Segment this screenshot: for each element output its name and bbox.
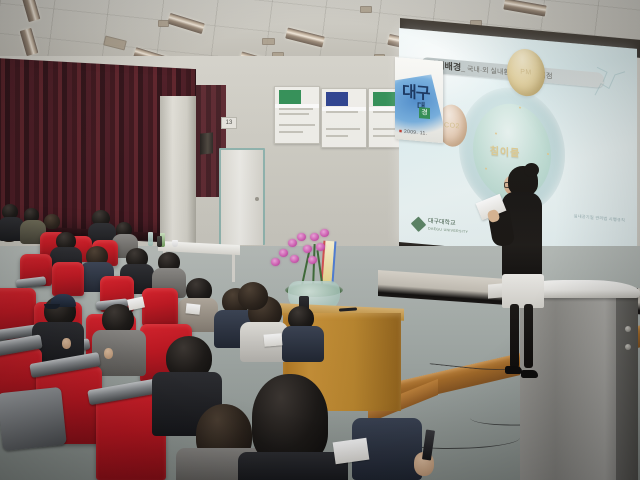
poster-glare-band bbox=[275, 104, 319, 108]
orchid-flower bbox=[290, 255, 299, 263]
water-bottle[interactable] bbox=[148, 232, 153, 246]
poster-text-line bbox=[279, 108, 313, 110]
poster-glare-band bbox=[322, 107, 366, 111]
poster-text-line bbox=[279, 113, 309, 115]
poster-text-line bbox=[279, 131, 303, 133]
presenter-shoe bbox=[505, 366, 522, 374]
slide-decor-dot bbox=[495, 132, 497, 134]
audience-hand bbox=[62, 338, 71, 349]
presenter-leg bbox=[524, 304, 533, 368]
audience-head bbox=[44, 214, 60, 229]
presenter-hair-bun bbox=[524, 163, 539, 177]
presenter-skirt bbox=[502, 274, 544, 308]
logo-text: 대구대학교 DAEGU UNIVERSITY bbox=[428, 219, 468, 234]
room-number-sign: 13 bbox=[221, 117, 237, 129]
logo-name: 대구대학교 bbox=[428, 219, 456, 227]
door-frame bbox=[219, 148, 265, 245]
presenter-leg bbox=[510, 304, 519, 368]
door[interactable] bbox=[221, 150, 263, 245]
banner-date-accent: ■ bbox=[399, 128, 402, 134]
poster-text-line bbox=[326, 135, 348, 137]
handout-paper bbox=[264, 333, 283, 347]
lecture-hall-photo: 13 실험배경_ 국내·외 실내환경 기준 차이점 bbox=[0, 0, 640, 480]
wall-column bbox=[160, 96, 196, 246]
notebook-page bbox=[333, 438, 370, 465]
lectern-side-panel bbox=[616, 288, 638, 480]
ceiling-vent bbox=[262, 38, 275, 45]
paper-cup[interactable] bbox=[172, 240, 178, 247]
dark-bottle[interactable] bbox=[157, 236, 162, 247]
logo-diamond-icon bbox=[411, 216, 427, 232]
wall-poster bbox=[274, 86, 320, 144]
audience-hand bbox=[104, 348, 113, 359]
orchid-flower bbox=[279, 249, 288, 257]
door-handle[interactable] bbox=[255, 197, 259, 201]
wall-poster bbox=[321, 88, 367, 148]
event-banner: 대구 대 경 ■ 2009. 11. bbox=[395, 57, 443, 143]
cap-brim bbox=[44, 304, 60, 309]
auditorium-seat[interactable] bbox=[142, 288, 178, 326]
slide-bubble-pm-label: PM bbox=[507, 67, 545, 77]
wall-speaker bbox=[200, 132, 213, 154]
slide-decor-dot bbox=[519, 106, 521, 108]
slide-decor-dot bbox=[485, 168, 487, 170]
seat-armrest bbox=[0, 387, 67, 451]
audience-head bbox=[252, 374, 328, 464]
ceiling-vent bbox=[360, 6, 372, 13]
presenter-shoe bbox=[521, 370, 538, 378]
slide-sketch-lines bbox=[591, 61, 631, 104]
orchid-flower bbox=[320, 229, 329, 237]
lectern-knob[interactable] bbox=[625, 344, 631, 350]
orchid-flower bbox=[303, 245, 312, 253]
audience-head bbox=[238, 282, 268, 310]
orchid-flower bbox=[288, 239, 297, 247]
table-leg bbox=[232, 252, 235, 282]
orchid-flower bbox=[271, 258, 280, 266]
poster-header-block bbox=[279, 90, 301, 104]
poster-text-line bbox=[326, 111, 358, 113]
orchid-flower bbox=[316, 243, 325, 251]
audience-body bbox=[238, 452, 348, 480]
orchid-flower bbox=[297, 233, 306, 241]
poster-text-line bbox=[326, 128, 360, 130]
auditorium-seat[interactable] bbox=[52, 262, 84, 296]
handout-paper bbox=[186, 303, 201, 314]
orchid-flower bbox=[308, 256, 317, 264]
orchid-flower bbox=[310, 233, 319, 241]
slide-decor-dot bbox=[547, 153, 549, 155]
slide-university-logo: 대구대학교 DAEGU UNIVERSITY bbox=[413, 215, 485, 237]
poster-header-block bbox=[326, 92, 348, 106]
presenter bbox=[496, 166, 558, 384]
banner-badge: 경 bbox=[419, 107, 430, 119]
banner-line1: 대구 bbox=[402, 78, 429, 104]
ceiling-vent bbox=[158, 20, 169, 27]
poster-header-block bbox=[373, 92, 395, 106]
poster-text-line bbox=[279, 124, 315, 126]
audience-body bbox=[282, 326, 324, 362]
logo-subtext: DAEGU UNIVERSITY bbox=[428, 226, 468, 234]
lectern-knob[interactable] bbox=[625, 326, 631, 332]
